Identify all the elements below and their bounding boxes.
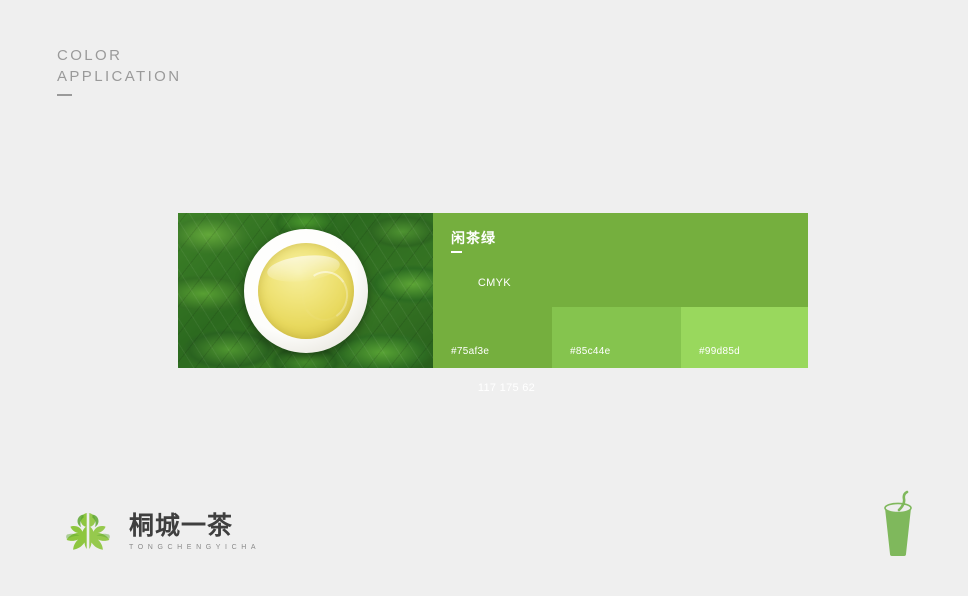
color-info-panel: 闲茶绿 CMYK 60 16 91 0 RGB 117 175 62 #75af…	[433, 213, 808, 368]
color-swatch-light: #99d85d	[681, 307, 808, 368]
takeaway-cup-icon	[872, 490, 924, 560]
page-title: COLOR APPLICATION	[57, 45, 181, 96]
brand-name-en: TONGCHENGYICHA	[129, 544, 260, 551]
brand-logo: 桐城一茶 TONGCHENGYICHA	[57, 505, 260, 557]
page-title-line-2: APPLICATION	[57, 66, 181, 87]
cmyk-label: CMYK	[478, 277, 511, 289]
color-swatch-primary: #75af3e	[433, 307, 552, 368]
page-title-line-1: COLOR	[57, 45, 181, 66]
color-name-cn: 闲茶绿	[451, 228, 496, 248]
color-swatch-primary-label: #75af3e	[451, 346, 489, 357]
rgb-value: 117 175 62	[478, 382, 535, 394]
page-title-underline	[57, 94, 72, 96]
leaf-emblem-icon	[57, 505, 119, 557]
color-swatch-mid: #85c44e	[552, 307, 681, 368]
brand-name-cn: 桐城一茶	[129, 511, 260, 541]
color-application-block: 闲茶绿 CMYK 60 16 91 0 RGB 117 175 62 #75af…	[178, 213, 808, 368]
tea-liquid	[258, 243, 354, 339]
white-teacup	[244, 229, 368, 353]
color-swatch-mid-label: #85c44e	[570, 346, 610, 357]
color-swatch-light-label: #99d85d	[699, 346, 740, 357]
color-swatch-strip: #75af3e #85c44e #99d85d	[433, 307, 808, 368]
color-name-underline	[451, 251, 462, 253]
tea-cup-photo	[178, 213, 433, 368]
brand-text: 桐城一茶 TONGCHENGYICHA	[129, 511, 260, 551]
